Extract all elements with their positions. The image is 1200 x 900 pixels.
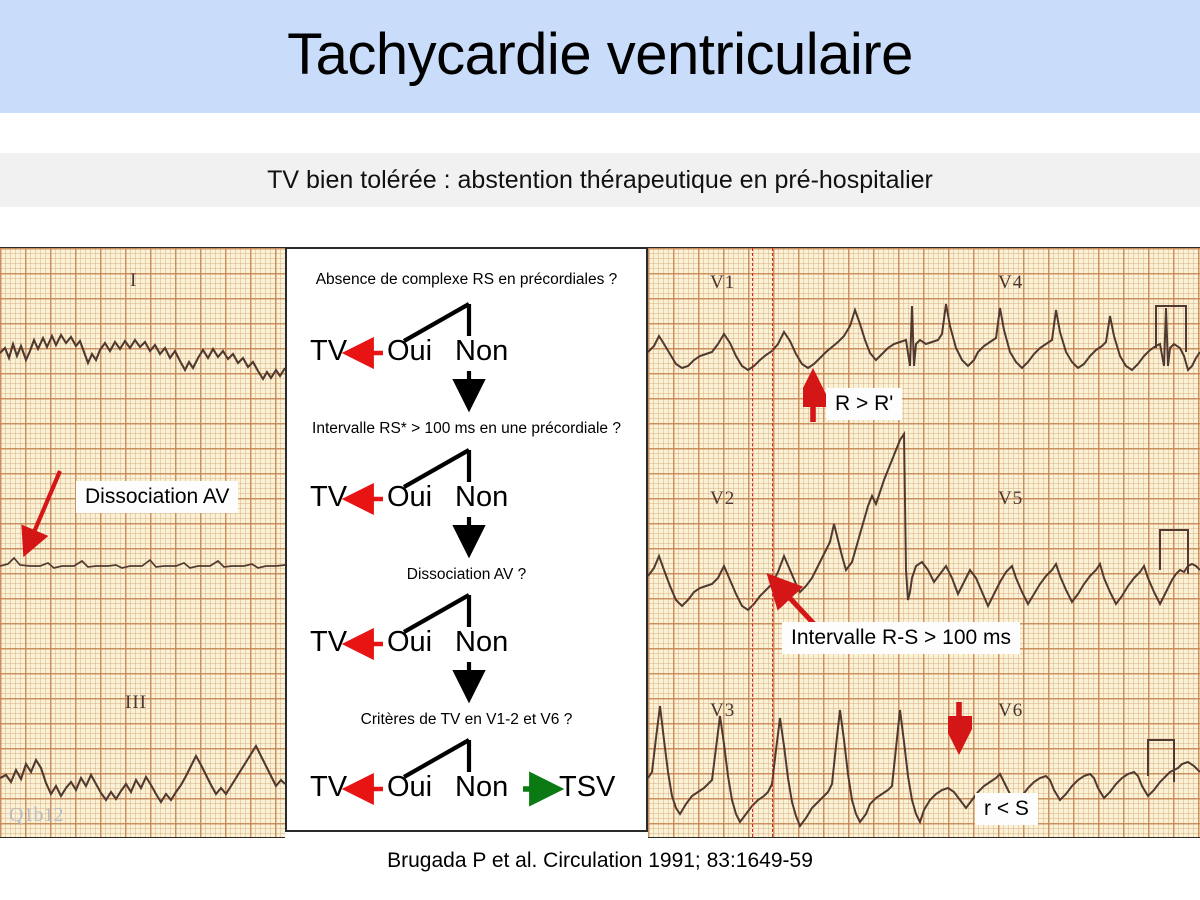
lead-label-V1: V1 [710,272,735,294]
dissociation-av-arrow-icon [14,463,74,568]
r-less-s-arrow-icon [948,698,972,758]
lead-label-V3: V3 [710,700,735,722]
lead-label-V6: V6 [998,700,1023,722]
lead-label-I: I [130,270,137,292]
caliper-line-left [752,248,753,837]
flowchart-branch-1 [287,291,650,413]
callout-dissociation-av: Dissociation AV [76,481,238,513]
ecg-trace-right [648,248,1200,837]
lead-label-V2: V2 [710,488,735,510]
citation-text: Brugada P et al. Circulation 1991; 83:16… [387,849,813,873]
flowchart-branch-4 [287,727,650,827]
callout-interval-rs: Intervalle R-S > 100 ms [782,622,1020,654]
lead-label-V4: V4 [998,272,1023,294]
citation: Brugada P et al. Circulation 1991; 83:16… [0,849,1200,873]
ecg-panel-limb-leads: I III Q1b12 [0,247,285,838]
subtitle-band: TV bien tolérée : abstention thérapeutiq… [0,153,1200,207]
brugada-algorithm-flowchart: Absence de complexe RS en précordiales ?… [285,247,648,832]
lead-label-III: III [125,692,147,714]
flowchart-question-2: Intervalle RS* > 100 ms en une précordia… [287,420,646,438]
caliper-line-right [772,248,773,837]
ecg-figure: I III Q1b12 Dissociation AV [0,247,1200,836]
flowchart-question-1: Absence de complexe RS en précordiales ? [287,271,646,289]
flowchart-branch-2 [287,437,650,559]
r-greater-rprime-arrow-icon [803,368,827,426]
callout-r-less-s: r < S [975,793,1038,825]
callout-r-greater-rprime: R > R' [826,388,902,420]
page-title: Tachycardie ventriculaire [0,14,1200,96]
subtitle-text: TV bien tolérée : abstention thérapeutiq… [0,153,1200,207]
lead-label-V5: V5 [998,488,1023,510]
flowchart-branch-3 [287,582,650,704]
ecg-panel-precordial-leads: V1 V4 V2 V5 V3 V6 [648,247,1200,838]
watermark: Q1b12 [9,804,63,827]
